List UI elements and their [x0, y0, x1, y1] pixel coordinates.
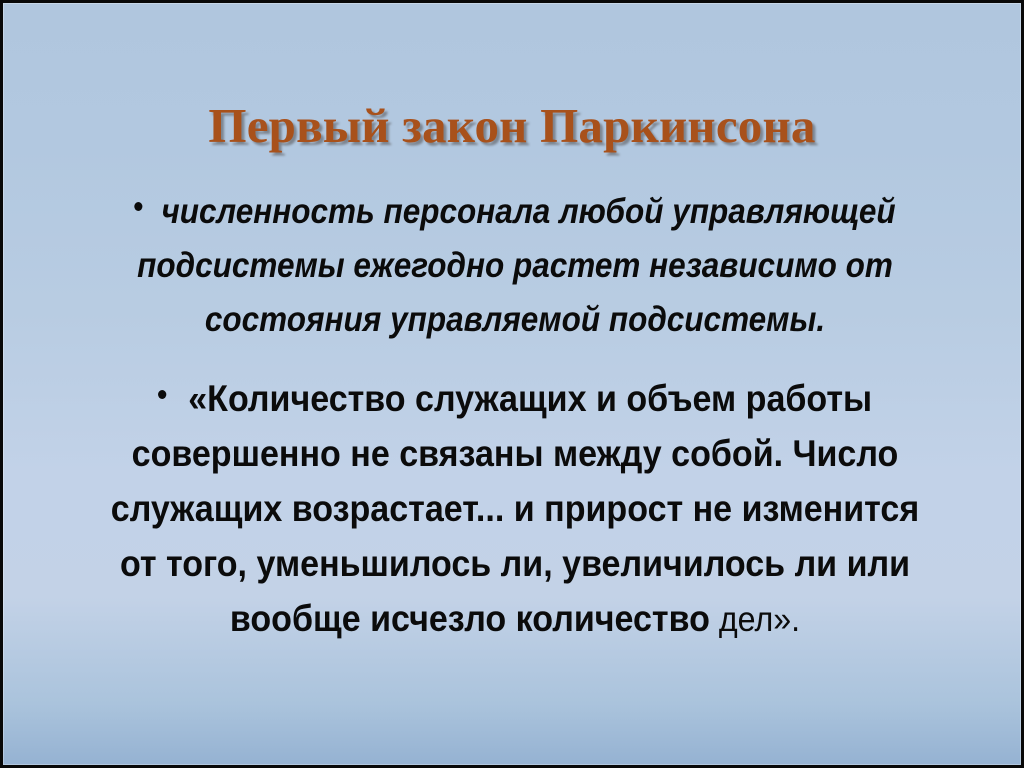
- bullet-item-2-tail: дел».: [710, 600, 800, 639]
- bullet-item-1: численность персонала любой управляющей …: [105, 185, 926, 347]
- bullet-item-2: «Количество служащих и объем работы сове…: [95, 371, 934, 647]
- bullet-marker-icon: [158, 390, 166, 399]
- slide-body: численность персонала любой управляющей …: [59, 185, 971, 647]
- page-title: Первый закон Паркинсона: [3, 98, 1021, 154]
- bullet-marker-icon: [134, 202, 142, 211]
- bullet-item-2-text: «Количество служащих и объем работы сове…: [111, 378, 919, 639]
- bullet-item-1-text: численность персонала любой управляющей …: [137, 192, 895, 339]
- presentation-slide: Первый закон Паркинсона численность перс…: [0, 0, 1024, 768]
